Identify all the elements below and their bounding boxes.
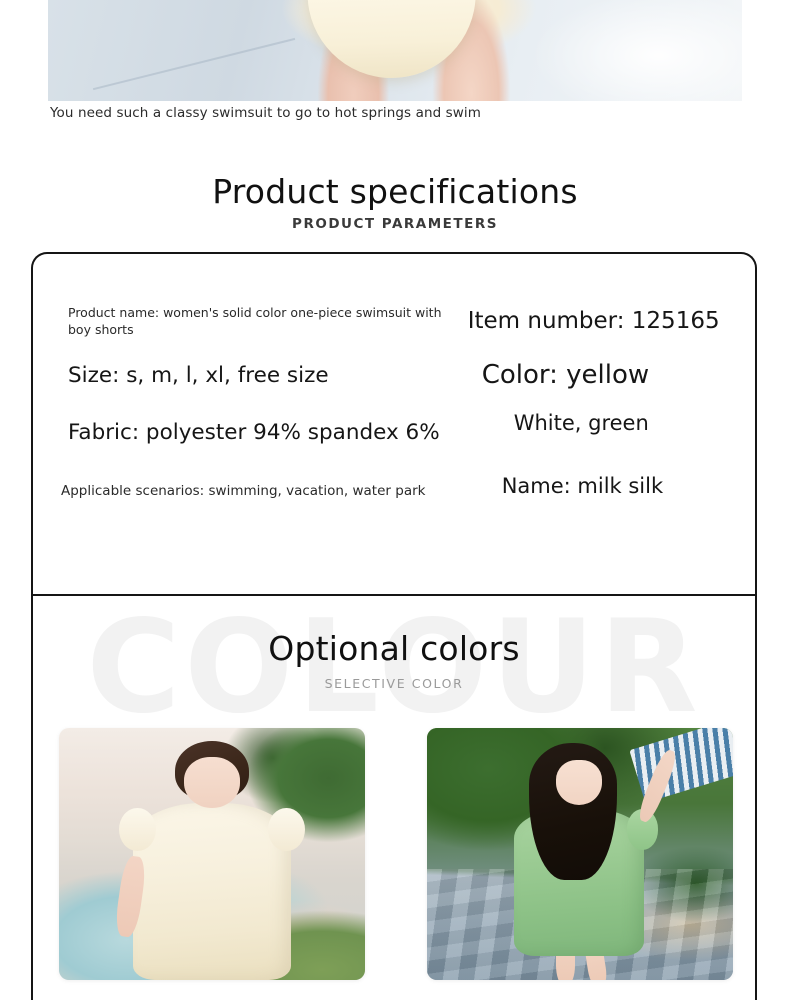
green-model-figure xyxy=(519,743,641,980)
page-title: Product specifications xyxy=(0,172,790,212)
page-subtitle: PRODUCT PARAMETERS xyxy=(0,216,790,232)
green-face xyxy=(556,760,603,805)
spec-color: Color: yellow xyxy=(482,358,649,392)
cream-sleeve-left xyxy=(119,808,156,851)
spec-product-name: Product name: women's solid color one-pi… xyxy=(68,304,448,338)
spec-item-number: Item number: 125165 xyxy=(468,306,720,336)
specifications-left-column: Product name: women's solid color one-pi… xyxy=(33,254,434,594)
cream-dress-shape xyxy=(133,803,291,980)
product-specifications-heading: Product specifications PRODUCT PARAMETER… xyxy=(0,172,790,232)
spec-size: Size: s, m, l, xl, free size xyxy=(68,362,329,390)
specifications-right-column: Item number: 125165 Color: yellow White,… xyxy=(434,254,755,594)
color-swatch-cream[interactable] xyxy=(59,728,365,980)
optional-colors-title: Optional colors xyxy=(33,628,755,670)
spec-material-name: Name: milk silk xyxy=(502,472,663,500)
color-swatch-green[interactable] xyxy=(427,728,733,980)
banner-photo xyxy=(48,0,742,101)
top-banner-image xyxy=(48,0,742,101)
optional-colors-section: COLOUR Optional colors SELECTIVE COLOR xyxy=(31,594,757,1000)
specifications-columns: Product name: women's solid color one-pi… xyxy=(33,254,755,594)
cream-face xyxy=(184,757,240,807)
cream-sleeve-right xyxy=(268,808,305,851)
optional-colors-subtitle: SELECTIVE COLOR xyxy=(33,676,755,691)
spec-color-additional: White, green xyxy=(514,409,649,437)
spec-fabric: Fabric: polyester 94% spandex 6% xyxy=(68,419,440,447)
banner-caption: You need such a classy swimsuit to go to… xyxy=(50,104,481,122)
color-swatch-gallery xyxy=(59,728,733,980)
specifications-card: Product name: women's solid color one-pi… xyxy=(31,252,757,594)
cream-model-figure xyxy=(142,741,283,980)
spec-applicable-scenarios: Applicable scenarios: swimming, vacation… xyxy=(61,482,425,501)
optional-colors-heading: Optional colors SELECTIVE COLOR xyxy=(33,628,755,691)
